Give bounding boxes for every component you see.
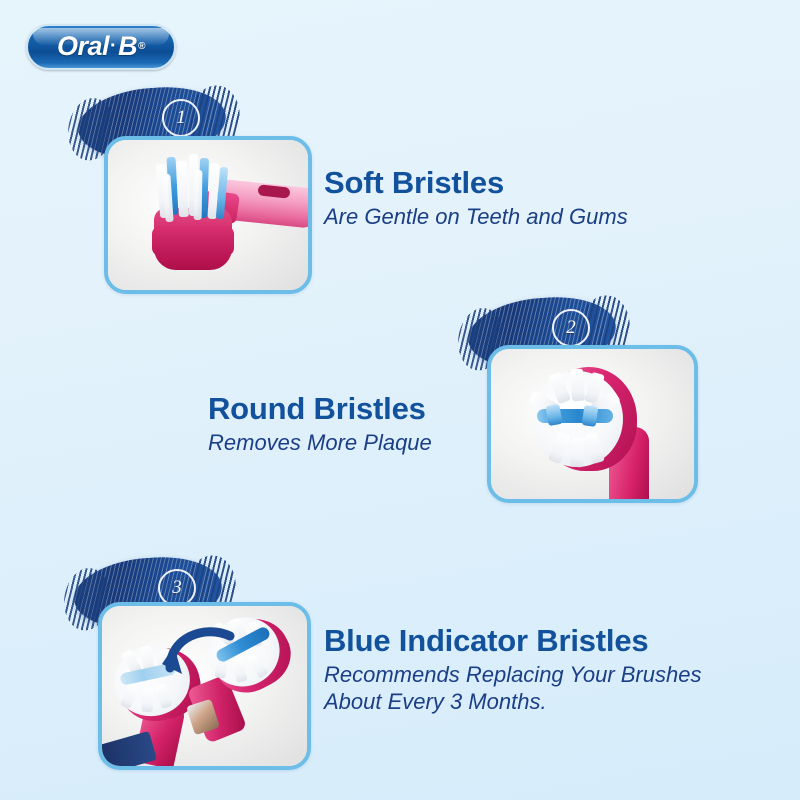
logo-wordmark: Oral · B ® [26, 24, 176, 70]
photo-toothbrush-head-side [108, 140, 308, 290]
feature-text-1: Soft Bristles Are Gentle on Teeth and Gu… [324, 166, 628, 230]
photo-round-brush-head-top [491, 349, 694, 499]
brush-head-lip [152, 226, 234, 256]
infographic-page: Oral · B ® 1 [0, 0, 800, 800]
logo-text-oral: Oral [57, 31, 109, 62]
replace-arrow-icon [160, 620, 242, 676]
bristle-tuft [570, 437, 585, 468]
feature-subtitle-1: Are Gentle on Teeth and Gums [324, 203, 628, 231]
feature-subtitle-2: Removes More Plaque [208, 429, 432, 457]
bristle-tuft-blue [582, 405, 599, 427]
badge-number-1: 1 [162, 99, 200, 137]
photo-two-brush-heads [102, 606, 307, 766]
bristle-tuft [194, 170, 203, 220]
feature-subtitle-3-line1: Recommends Replacing Your Brushes [324, 661, 701, 689]
feature-text-2: Round Bristles Removes More Plaque [208, 392, 432, 456]
registered-trademark-icon: ® [138, 41, 145, 52]
feature-title-1: Soft Bristles [324, 166, 628, 201]
feature-photo-3 [98, 602, 311, 770]
feature-photo-1 [104, 136, 312, 294]
feature-title-2: Round Bristles [208, 392, 432, 427]
feature-text-3: Blue Indicator Bristles Recommends Repla… [324, 624, 701, 716]
logo-text-b: B [118, 31, 137, 62]
bristle-tuft [142, 688, 154, 712]
badge-number-2: 2 [552, 309, 590, 347]
feature-photo-2 [487, 345, 698, 503]
feature-subtitle-3-line2: About Every 3 Months. [324, 688, 701, 716]
bristle-tuft [177, 161, 189, 217]
bristle-tuft [570, 369, 585, 402]
oral-b-logo: Oral · B ® [26, 24, 176, 70]
feature-title-3: Blue Indicator Bristles [324, 624, 701, 659]
logo-separator-dot: · [110, 35, 116, 58]
